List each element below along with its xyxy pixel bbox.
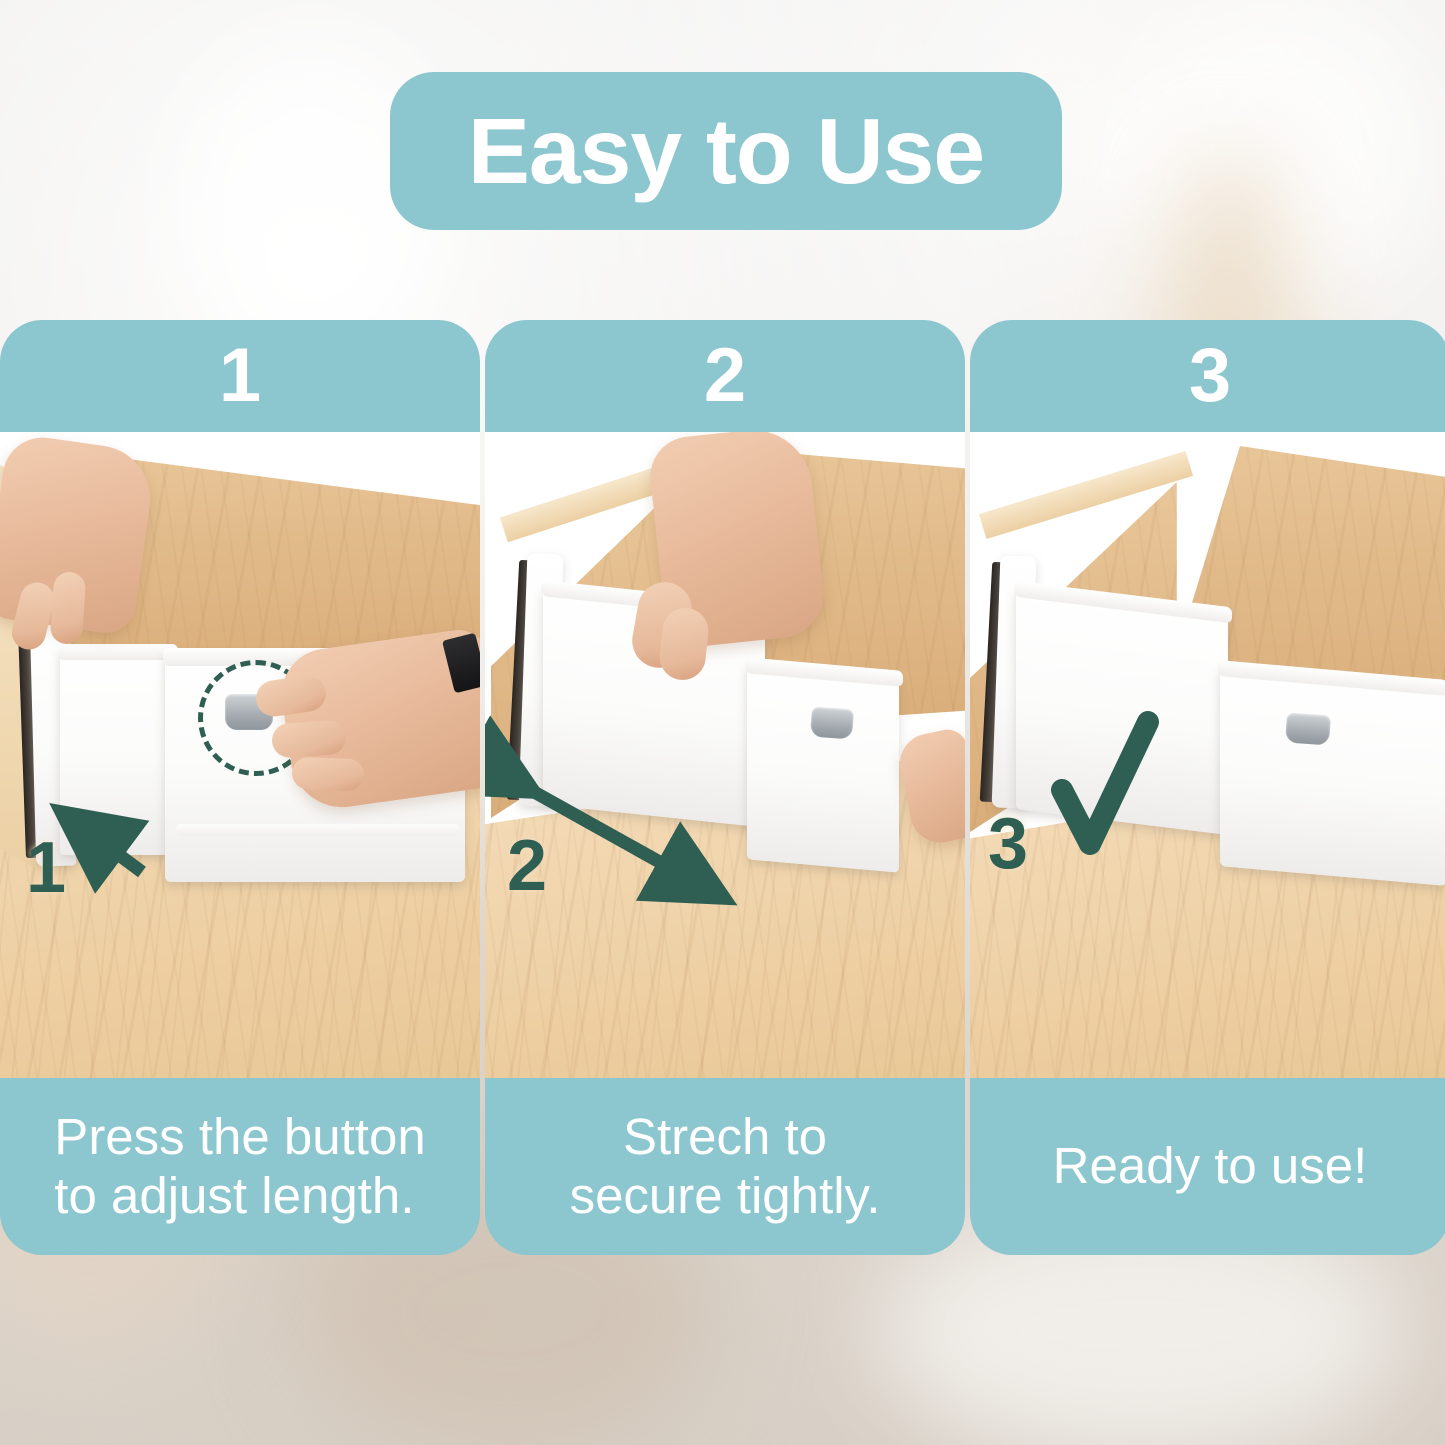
double-headed-arrow-icon — [527, 788, 717, 894]
step-2-photo: 2 — [485, 432, 965, 1078]
step-2-number: 2 — [704, 338, 746, 414]
arrow-up-left-icon — [68, 817, 142, 872]
step-cards-row: 1 — [0, 320, 1445, 1255]
step-1-header: 1 — [0, 320, 480, 432]
checkmark-icon — [1062, 722, 1148, 844]
step-1-number: 1 — [219, 338, 261, 414]
step-1-marker-number: 1 — [26, 832, 66, 904]
infographic-root: Easy to Use 1 — [0, 0, 1445, 1445]
step-2-caption: Strech to secure tightly. — [485, 1078, 965, 1255]
step-2-header: 2 — [485, 320, 965, 432]
step-1-caption: Press the button to adjust length. — [0, 1078, 480, 1255]
step-3-caption-text: Ready to use! — [1053, 1137, 1368, 1195]
step-3-annotation-svg — [970, 432, 1445, 1078]
step-3-marker-number: 3 — [988, 808, 1028, 880]
step-3-number: 3 — [1189, 338, 1231, 414]
title-banner: Easy to Use — [390, 72, 1062, 230]
step-card-2: 2 — [485, 320, 965, 1255]
step-1-caption-text: Press the button to adjust length. — [54, 1108, 425, 1224]
step-2-annotation-svg — [485, 432, 965, 1078]
step-1-annotation-svg — [0, 432, 480, 1078]
step-3-caption: Ready to use! — [970, 1078, 1445, 1255]
step-card-1: 1 — [0, 320, 480, 1255]
step-2-marker-number: 2 — [507, 830, 547, 902]
page-title: Easy to Use — [468, 105, 984, 198]
step-3-photo: 3 — [970, 432, 1445, 1078]
step-1-photo: 1 — [0, 432, 480, 1078]
step-card-3: 3 — [970, 320, 1445, 1255]
step-3-header: 3 — [970, 320, 1445, 432]
step-2-caption-text: Strech to secure tightly. — [570, 1108, 881, 1224]
